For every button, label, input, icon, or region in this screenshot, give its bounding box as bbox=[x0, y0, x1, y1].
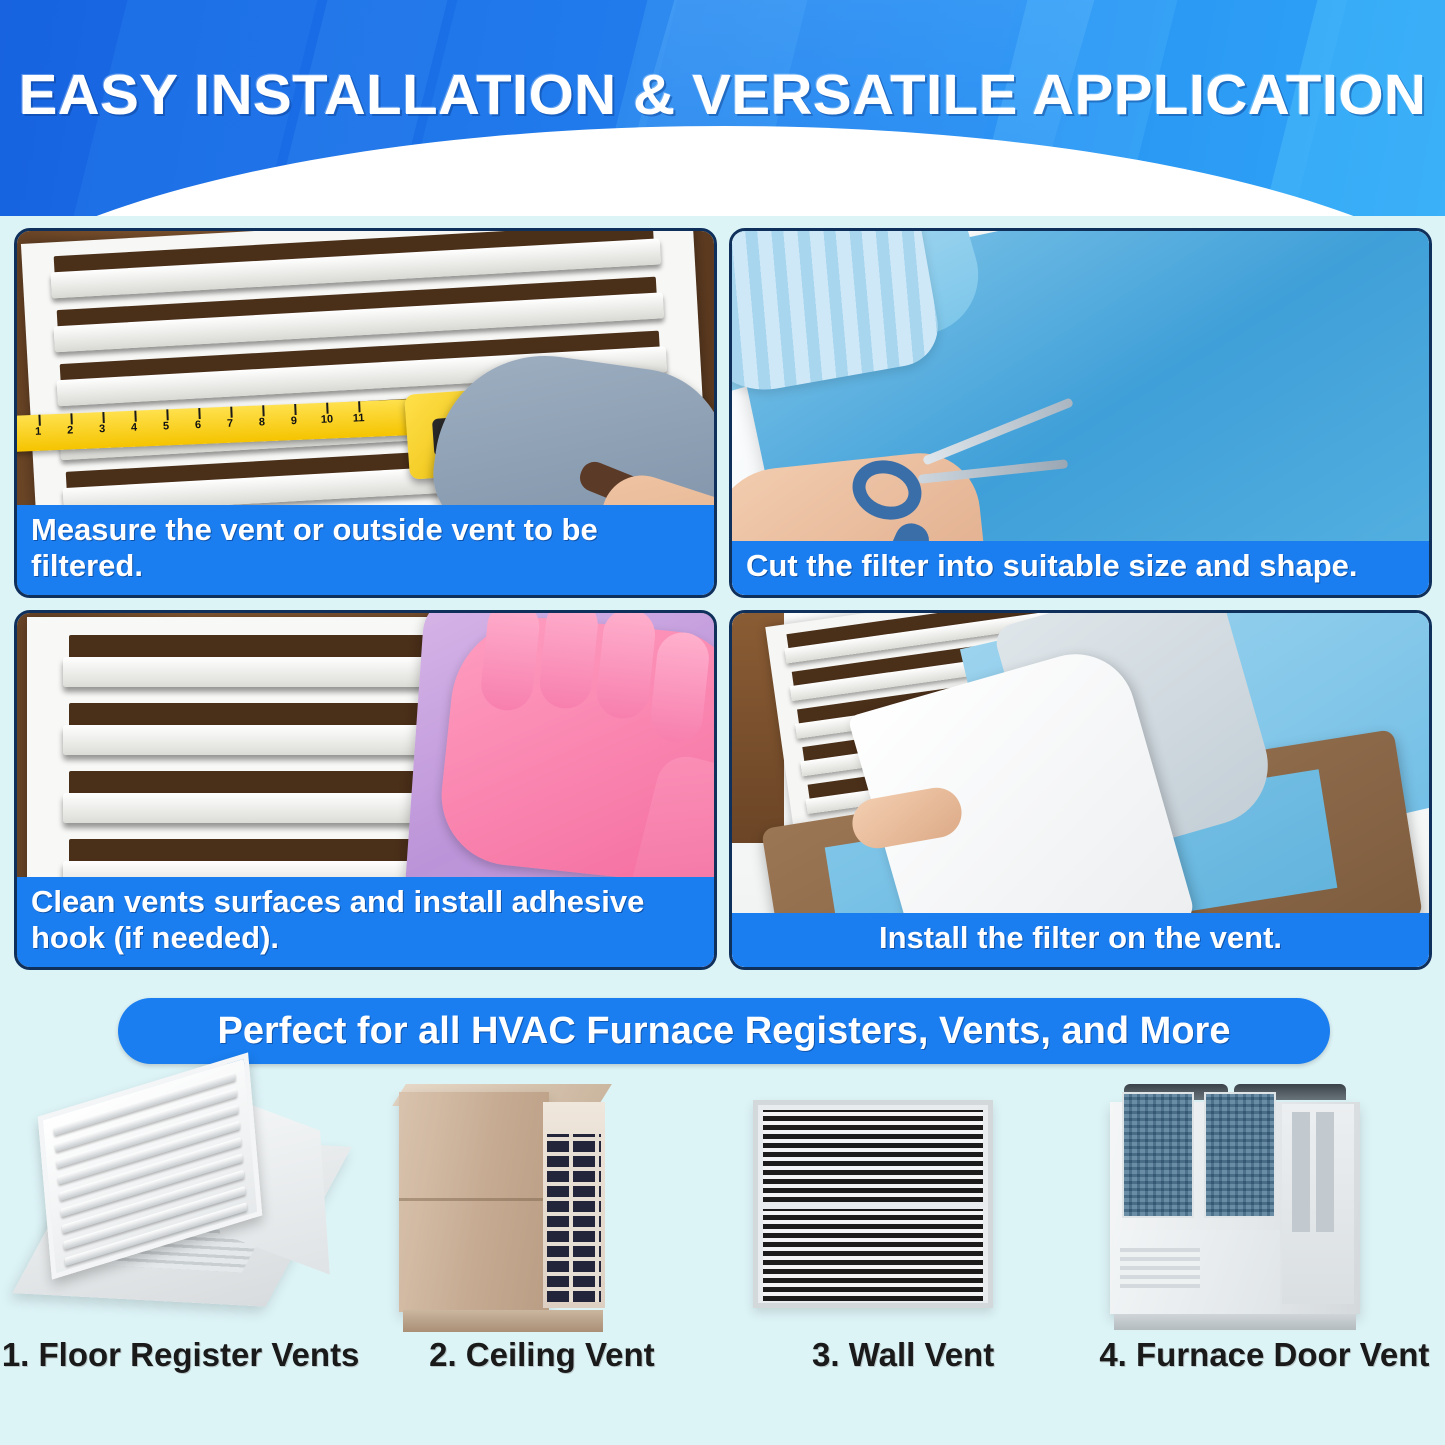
floor-register-vent-image bbox=[0, 1078, 361, 1328]
product-furnace-door-vent: 4. Furnace Door Vent bbox=[1084, 1078, 1445, 1378]
product-label-3: 3. Wall Vent bbox=[723, 1336, 1084, 1374]
product-row: 1. Floor Register Vents 2. Ceiling Vent … bbox=[0, 1078, 1445, 1378]
unit-seam bbox=[399, 1198, 549, 1201]
condenser-coil-right bbox=[1204, 1092, 1276, 1218]
unit-base bbox=[403, 1310, 603, 1332]
ceiling-vent-image bbox=[361, 1078, 722, 1328]
unit-body bbox=[399, 1092, 549, 1312]
unit-vent-grid bbox=[547, 1134, 601, 1302]
step-4-caption: Install the filter on the vent. bbox=[732, 913, 1429, 967]
condenser-slit-1 bbox=[1292, 1112, 1310, 1232]
product-label-2: 2. Ceiling Vent bbox=[361, 1336, 722, 1374]
wall-vent-image bbox=[723, 1078, 1084, 1328]
product-floor-register-vents: 1. Floor Register Vents bbox=[0, 1078, 361, 1378]
step-panel-cut: Cut the filter into suitable size and sh… bbox=[729, 228, 1432, 598]
furnace-door-vent-image bbox=[1084, 1078, 1445, 1328]
wall-grille bbox=[753, 1100, 993, 1308]
step-2-caption: Cut the filter into suitable size and sh… bbox=[732, 541, 1429, 595]
steps-row-bottom: Clean vents surfaces and install adhesiv… bbox=[14, 610, 1432, 970]
condenser-louvers bbox=[1120, 1248, 1200, 1288]
page-title: EASY INSTALLATION & VERSATILE APPLICATIO… bbox=[0, 62, 1445, 128]
steps-grid: 1 2 3 4 5 6 7 8 9 10 11 Measure the vent… bbox=[14, 228, 1432, 982]
step-panel-clean: Clean vents surfaces and install adhesiv… bbox=[14, 610, 717, 970]
step-2-photo bbox=[732, 231, 1429, 595]
condenser-slit-2 bbox=[1316, 1112, 1334, 1232]
steps-row-top: 1 2 3 4 5 6 7 8 9 10 11 Measure the vent… bbox=[14, 228, 1432, 598]
condenser-coil-left bbox=[1122, 1092, 1194, 1218]
product-label-1: 1. Floor Register Vents bbox=[0, 1336, 361, 1374]
grille-upper-slats bbox=[763, 1110, 983, 1202]
product-label-4: 4. Furnace Door Vent bbox=[1084, 1336, 1445, 1374]
step-1-caption: Measure the vent or outside vent to be f… bbox=[17, 505, 714, 595]
grille-lower-slats bbox=[763, 1209, 983, 1301]
step-panel-measure: 1 2 3 4 5 6 7 8 9 10 11 Measure the vent… bbox=[14, 228, 717, 598]
applications-banner: Perfect for all HVAC Furnace Registers, … bbox=[118, 998, 1330, 1064]
step-3-caption: Clean vents surfaces and install adhesiv… bbox=[17, 877, 714, 967]
condenser-base bbox=[1114, 1314, 1356, 1330]
step-panel-install: Install the filter on the vent. bbox=[729, 610, 1432, 970]
header-banner: EASY INSTALLATION & VERSATILE APPLICATIO… bbox=[0, 0, 1445, 216]
product-wall-vent: 3. Wall Vent bbox=[723, 1078, 1084, 1378]
product-ceiling-vent: 2. Ceiling Vent bbox=[361, 1078, 722, 1378]
